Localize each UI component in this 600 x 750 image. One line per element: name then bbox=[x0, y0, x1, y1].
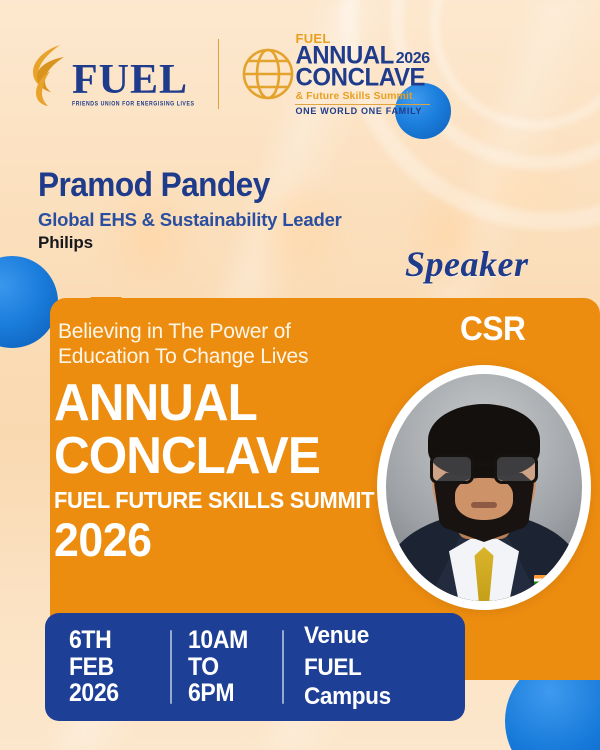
info-divider bbox=[170, 630, 172, 704]
glasses-lens-left bbox=[430, 454, 474, 484]
glasses-lens-right bbox=[494, 454, 538, 484]
event-title-line2: CONCLAVE bbox=[54, 432, 374, 481]
event-tagline-line1: Believing in The Power of bbox=[58, 320, 308, 345]
event-info-bar: 6TH FEB 2026 10AM TO 6PM Venue FUEL Camp… bbox=[45, 613, 465, 721]
event-tagline-line2: Education To Change Lives bbox=[58, 345, 308, 370]
conclave-rule bbox=[295, 104, 429, 105]
event-time: 10AM TO 6PM bbox=[188, 627, 279, 707]
event-time-to: TO bbox=[188, 654, 271, 681]
glasses-bridge bbox=[474, 463, 494, 466]
fuel-logo: FUEL FRIENDS UNION FOR ENERGISING LIVES bbox=[26, 41, 194, 107]
event-date-day: 6TH bbox=[69, 627, 158, 654]
event-title-line3: FUEL FUTURE SKILLS SUMMIT bbox=[54, 487, 374, 514]
flag-pin-icon bbox=[534, 575, 548, 585]
portrait-lip bbox=[471, 502, 497, 508]
event-title-line1: ANNUAL bbox=[54, 380, 374, 428]
fuel-wordmark-text: FUEL bbox=[72, 61, 188, 100]
speaker-identity: Pramod Pandey Global EHS & Sustainabilit… bbox=[38, 168, 458, 253]
event-tagline: Believing in The Power of Education To C… bbox=[58, 320, 308, 370]
event-venue: Venue FUEL Campus bbox=[300, 622, 461, 711]
logo-divider bbox=[218, 39, 219, 109]
portrait-face bbox=[455, 478, 513, 520]
conclave-motto: ONE WORLD ONE FAMILY bbox=[295, 107, 429, 116]
event-title-year: 2026 bbox=[54, 516, 374, 563]
event-title: ANNUAL CONCLAVE FUEL FUTURE SKILLS SUMMI… bbox=[54, 380, 391, 563]
speaker-label: Speaker bbox=[405, 243, 529, 285]
globe-icon bbox=[239, 45, 297, 103]
event-venue-label: Venue bbox=[304, 622, 451, 650]
info-divider bbox=[282, 630, 284, 704]
portrait-image bbox=[386, 374, 582, 601]
event-venue-value: FUEL Campus bbox=[304, 654, 451, 712]
speaker-name: Pramod Pandey bbox=[38, 168, 429, 204]
speaker-portrait bbox=[377, 365, 591, 610]
category-badge-csr: CSR bbox=[460, 310, 525, 349]
conclave-text-lockup: FUEL ANNUAL 2026 CONCLAVE & Future Skill… bbox=[295, 32, 429, 117]
poster-root: FUEL FRIENDS UNION FOR ENERGISING LIVES … bbox=[0, 0, 600, 750]
event-time-end: 6PM bbox=[188, 680, 271, 707]
conclave-logo: FUEL ANNUAL 2026 CONCLAVE & Future Skill… bbox=[239, 32, 429, 117]
speaker-organization: Philips bbox=[38, 233, 458, 253]
flame-icon bbox=[26, 41, 70, 107]
conclave-subtitle: & Future Skills Summit bbox=[295, 91, 429, 102]
header-logos: FUEL FRIENDS UNION FOR ENERGISING LIVES … bbox=[0, 28, 600, 120]
event-date-year: 2026 bbox=[69, 680, 158, 707]
speaker-role: Global EHS & Sustainability Leader bbox=[38, 209, 458, 231]
panel-notch bbox=[90, 297, 122, 313]
fuel-tagline: FRIENDS UNION FOR ENERGISING LIVES bbox=[72, 101, 194, 108]
fuel-wordmark: FUEL FRIENDS UNION FOR ENERGISING LIVES bbox=[72, 61, 194, 107]
event-date-month: FEB bbox=[69, 654, 158, 681]
glasses-icon bbox=[430, 454, 538, 484]
event-time-start: 10AM bbox=[188, 627, 271, 654]
event-date: 6TH FEB 2026 bbox=[69, 627, 166, 707]
conclave-conclave-word: CONCLAVE bbox=[295, 65, 429, 90]
